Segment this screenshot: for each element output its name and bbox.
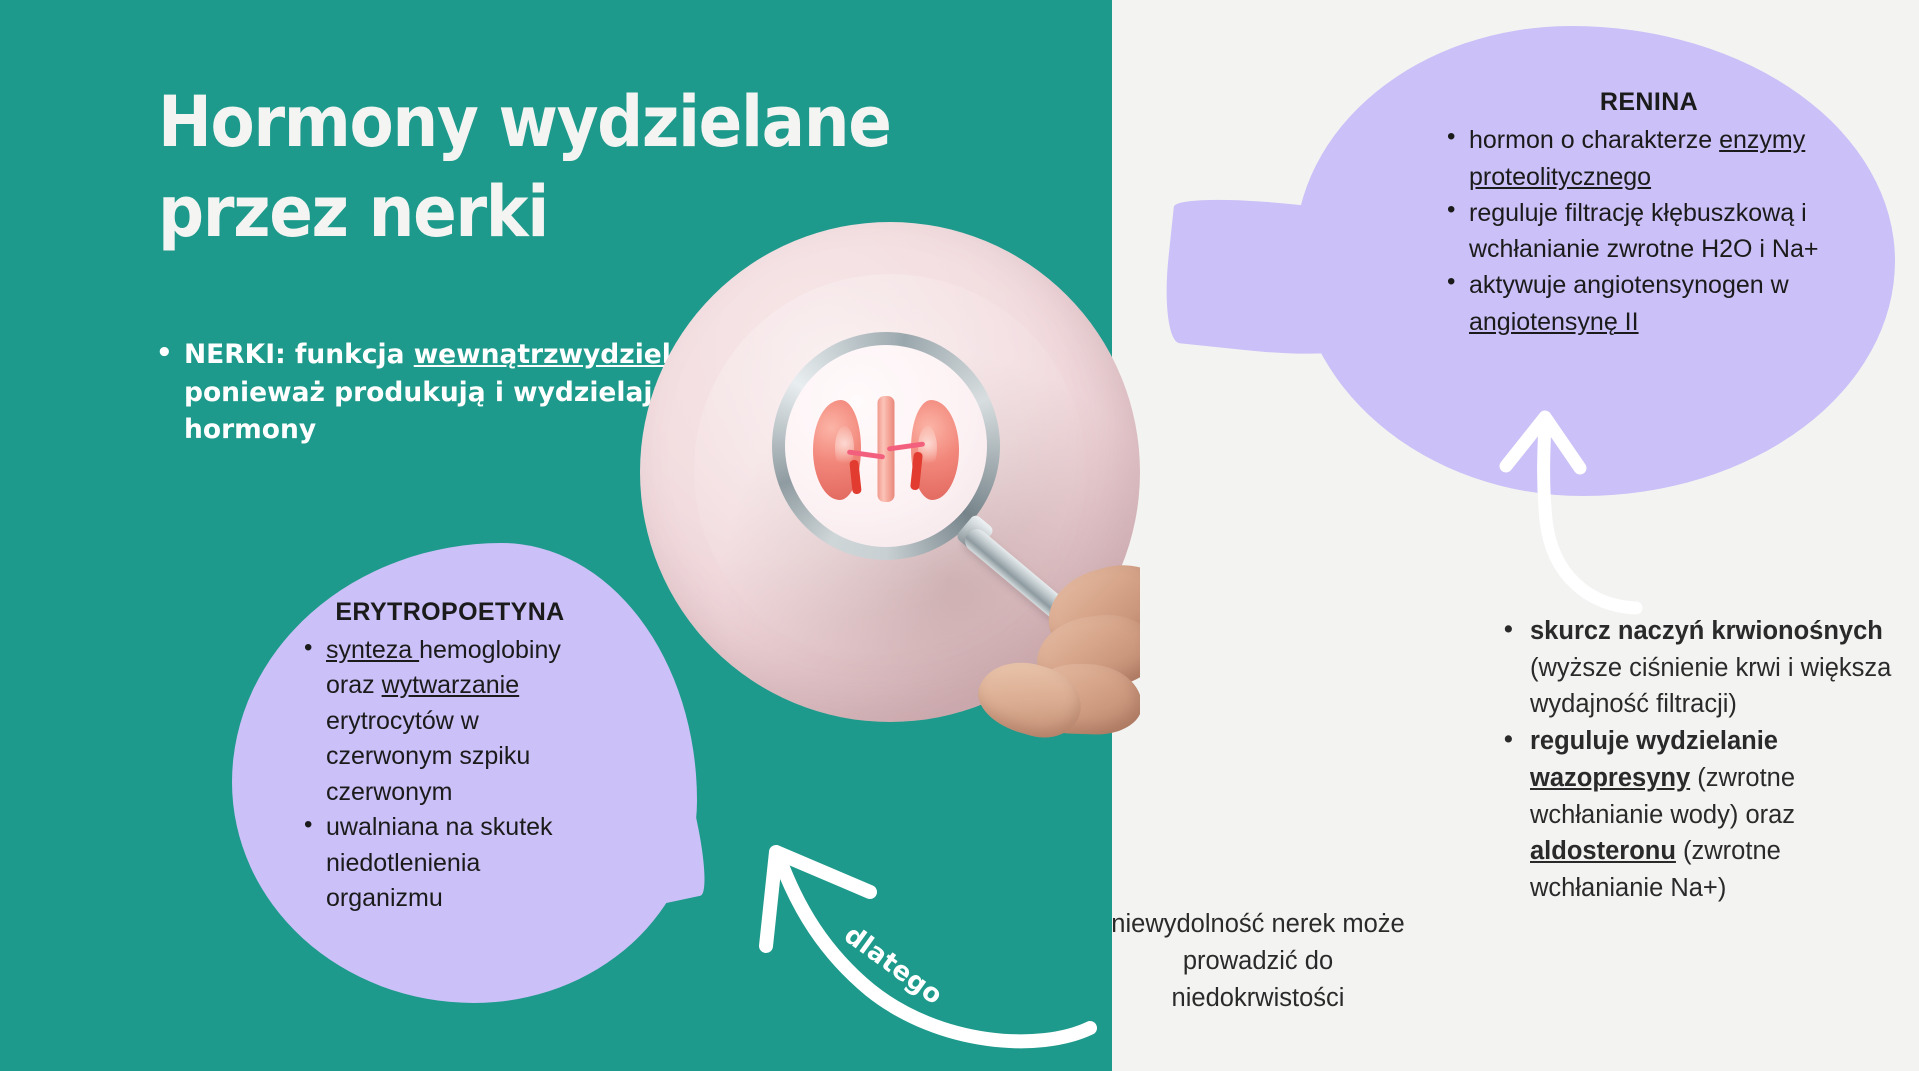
epo-seg-4: erytrocytów w czerwonym szpiku czerwonym: [326, 707, 530, 806]
eff-seg-3: reguluje wydzielanie: [1530, 727, 1778, 755]
list-item: synteza hemoglobiny oraz wytwarzanie ery…: [300, 633, 600, 811]
bubble-content: RENINA hormon o charakterze enzymy prote…: [1443, 84, 1855, 340]
magnifier-lens: [785, 345, 987, 547]
hand-holding-magnifier: [1036, 560, 1140, 820]
bubble-heading: RENINA: [1443, 84, 1855, 120]
bubble-list: hormon o charakterze enzymy proteolitycz…: [1443, 122, 1855, 340]
eff-seg-4: wazopresyny: [1530, 764, 1690, 792]
arrow-up-to-renina-icon: [1440, 400, 1690, 615]
list-item: aktywuje angiotensynogen w angiotensynę …: [1443, 267, 1855, 340]
arrow-dlatego-icon: [740, 830, 1120, 1060]
list-item: hormon o charakterze enzymy proteolitycz…: [1443, 122, 1855, 195]
renina-effects-list: skurcz naczyń krwionośnych (wyższe ciśni…: [1500, 613, 1900, 907]
kidney-failure-caption: niewydolność nerek może prowadzić do nie…: [1098, 906, 1418, 1017]
eff-seg-2: (wyższe ciśnienie krwi i większa wydajno…: [1530, 654, 1891, 719]
list-item: uwalniana na skutek niedotlenienia organ…: [300, 810, 600, 917]
epo-seg-5: uwalniana na skutek niedotlenienia organ…: [326, 813, 553, 912]
ren-seg-3: reguluje filtrację kłębuszkową i wchłani…: [1469, 199, 1818, 263]
list-item: reguluje wydzielanie wazopresyny (zwrotn…: [1500, 723, 1900, 907]
epo-seg-1: synteza: [326, 636, 419, 664]
list-item: reguluje filtrację kłębuszkową i wchłani…: [1443, 195, 1855, 268]
intro-seg-1: NERKI: funkcja: [184, 339, 414, 370]
eff-seg-1: skurcz naczyń krwionośnych: [1530, 617, 1883, 645]
ren-seg-1: hormon o charakterze: [1469, 126, 1719, 154]
ren-seg-5: angiotensynę II: [1469, 308, 1639, 336]
list-item: skurcz naczyń krwionośnych (wyższe ciśni…: [1500, 613, 1900, 723]
kidney-photo: [640, 222, 1140, 882]
photo-circle: [640, 222, 1140, 722]
eff-seg-6: aldosteronu: [1530, 837, 1676, 865]
epo-seg-3: wytwarzanie: [382, 671, 520, 699]
effects-list: skurcz naczyń krwionośnych (wyższe ciśni…: [1500, 613, 1900, 907]
bubble-list: synteza hemoglobiny oraz wytwarzanie ery…: [300, 633, 600, 917]
bubble-content: ERYTROPOETYNA synteza hemoglobiny oraz w…: [300, 595, 600, 917]
kidney-illustration: [811, 396, 961, 504]
speech-bubble-erytropoetyna: ERYTROPOETYNA synteza hemoglobiny oraz w…: [232, 543, 697, 1003]
ren-seg-4: aktywuje angiotensynogen w: [1469, 271, 1789, 299]
infographic-canvas: Hormony wydzielane przez nerki NERKI: fu…: [0, 0, 1919, 1071]
bubble-heading: ERYTROPOETYNA: [300, 595, 600, 631]
